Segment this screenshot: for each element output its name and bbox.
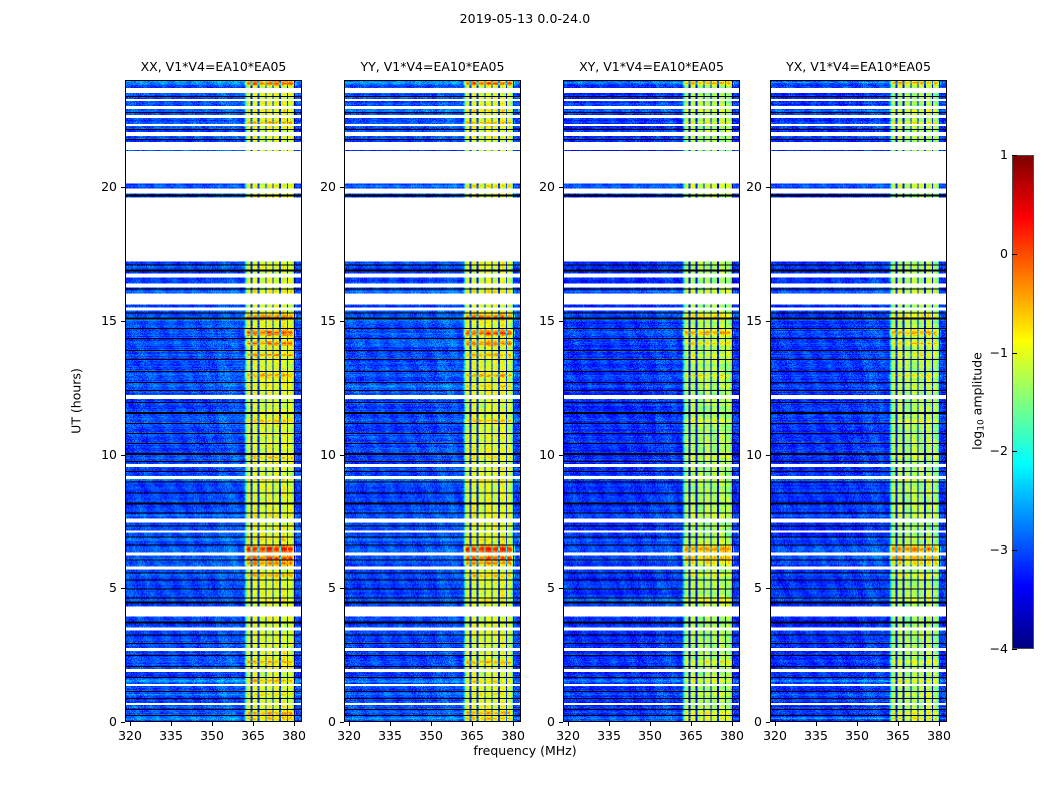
x-tick-mark (857, 722, 858, 726)
x-tick-label: 320 (327, 729, 371, 743)
y-tick-mark (340, 455, 344, 456)
colorbar-tick-mark (1012, 254, 1017, 255)
y-tick-label: 10 (722, 449, 762, 461)
colorbar-tick-label: 1 (1000, 149, 1008, 161)
x-tick-label: 350 (190, 729, 234, 743)
heatmap-panel-xy[interactable] (563, 80, 740, 722)
colorbar-tick-label: −1 (990, 347, 1008, 359)
panel-title-xx: XX, V1*V4=EA10*EA05 (125, 58, 302, 76)
y-tick-label: 5 (722, 582, 762, 594)
colorbar-label-text: log (970, 431, 985, 450)
heatmap-image-yy (345, 81, 520, 721)
y-tick-mark (340, 588, 344, 589)
y-tick-label: 10 (77, 449, 117, 461)
x-tick-mark (472, 722, 473, 726)
x-tick-label: 350 (628, 729, 672, 743)
colorbar-tick-mark (1012, 353, 1017, 354)
y-tick-label: 0 (296, 716, 336, 728)
y-tick-label: 15 (722, 315, 762, 327)
y-tick-label: 20 (722, 181, 762, 193)
figure-suptitle: 2019-05-13 0.0-24.0 (0, 11, 1050, 26)
y-tick-mark (121, 455, 125, 456)
panel-title-yx: YX, V1*V4=EA10*EA05 (770, 58, 947, 76)
y-tick-label: 5 (515, 582, 555, 594)
x-tick-mark (568, 722, 569, 726)
y-tick-label: 20 (77, 181, 117, 193)
x-tick-label: 350 (835, 729, 879, 743)
x-tick-mark (253, 722, 254, 726)
x-tick-mark (513, 722, 514, 726)
y-tick-label: 10 (296, 449, 336, 461)
y-tick-mark (340, 321, 344, 322)
x-tick-mark (171, 722, 172, 726)
y-axis-label: UT (hours) (69, 368, 84, 434)
colorbar-label: log10 amplitude (970, 352, 985, 450)
y-tick-mark (559, 321, 563, 322)
panel-title-yy: YY, V1*V4=EA10*EA05 (344, 58, 521, 76)
y-tick-label: 0 (515, 716, 555, 728)
x-tick-label: 380 (917, 729, 961, 743)
y-tick-label: 20 (515, 181, 555, 193)
y-tick-label: 10 (515, 449, 555, 461)
x-tick-label: 380 (710, 729, 754, 743)
y-tick-mark (766, 321, 770, 322)
figure-canvas: 2019-05-13 0.0-24.0 XX, V1*V4=EA10*EA05 … (0, 0, 1050, 800)
x-tick-mark (390, 722, 391, 726)
x-axis-label: frequency (MHz) (0, 743, 1050, 758)
y-tick-label: 0 (77, 716, 117, 728)
y-tick-mark (121, 588, 125, 589)
x-tick-label: 380 (272, 729, 316, 743)
panel-title-xy: XY, V1*V4=EA10*EA05 (563, 58, 740, 76)
heatmap-image-yx (771, 81, 946, 721)
y-tick-mark (121, 321, 125, 322)
colorbar-tick-mark (1012, 649, 1017, 650)
y-tick-mark (766, 722, 770, 723)
y-tick-mark (121, 722, 125, 723)
x-tick-label: 335 (149, 729, 193, 743)
x-tick-label: 365 (876, 729, 920, 743)
x-tick-label: 320 (108, 729, 152, 743)
x-tick-mark (898, 722, 899, 726)
y-tick-mark (559, 588, 563, 589)
colorbar[interactable] (1012, 155, 1034, 649)
x-tick-label: 335 (368, 729, 412, 743)
colorbar-label-tail: amplitude (970, 352, 985, 419)
x-tick-mark (650, 722, 651, 726)
heatmap-panel-xx[interactable] (125, 80, 302, 722)
x-tick-label: 320 (753, 729, 797, 743)
heatmap-panel-yx[interactable] (770, 80, 947, 722)
x-tick-mark (816, 722, 817, 726)
heatmap-image-xx (126, 81, 301, 721)
x-tick-label: 365 (231, 729, 275, 743)
x-tick-label: 335 (587, 729, 631, 743)
y-tick-mark (559, 455, 563, 456)
x-tick-mark (431, 722, 432, 726)
x-tick-mark (775, 722, 776, 726)
x-tick-mark (294, 722, 295, 726)
colorbar-tick-mark (1012, 155, 1017, 156)
x-tick-mark (130, 722, 131, 726)
x-tick-label: 380 (491, 729, 535, 743)
colorbar-tick-label: 0 (1000, 248, 1008, 260)
y-tick-mark (340, 722, 344, 723)
heatmap-image-xy (564, 81, 739, 721)
y-tick-mark (559, 187, 563, 188)
heatmap-panel-yy[interactable] (344, 80, 521, 722)
y-tick-label: 5 (296, 582, 336, 594)
colorbar-gradient (1013, 156, 1033, 648)
colorbar-tick-label: −4 (990, 643, 1008, 655)
y-tick-label: 15 (515, 315, 555, 327)
x-tick-label: 350 (409, 729, 453, 743)
x-tick-mark (691, 722, 692, 726)
x-tick-mark (939, 722, 940, 726)
y-tick-mark (121, 187, 125, 188)
x-tick-label: 320 (546, 729, 590, 743)
y-tick-label: 15 (77, 315, 117, 327)
y-tick-label: 15 (296, 315, 336, 327)
x-tick-label: 365 (450, 729, 494, 743)
x-tick-mark (609, 722, 610, 726)
colorbar-tick-mark (1012, 451, 1017, 452)
colorbar-tick-label: −3 (990, 544, 1008, 556)
colorbar-tick-label: −2 (990, 445, 1008, 457)
y-tick-label: 20 (296, 181, 336, 193)
x-tick-mark (212, 722, 213, 726)
x-tick-label: 335 (794, 729, 838, 743)
y-tick-label: 0 (722, 716, 762, 728)
x-tick-label: 365 (669, 729, 713, 743)
y-tick-mark (766, 187, 770, 188)
y-tick-mark (766, 588, 770, 589)
y-tick-label: 5 (77, 582, 117, 594)
colorbar-label-subscript: 10 (977, 419, 987, 430)
x-tick-mark (349, 722, 350, 726)
y-tick-mark (559, 722, 563, 723)
y-tick-mark (340, 187, 344, 188)
y-tick-mark (766, 455, 770, 456)
colorbar-tick-mark (1012, 550, 1017, 551)
